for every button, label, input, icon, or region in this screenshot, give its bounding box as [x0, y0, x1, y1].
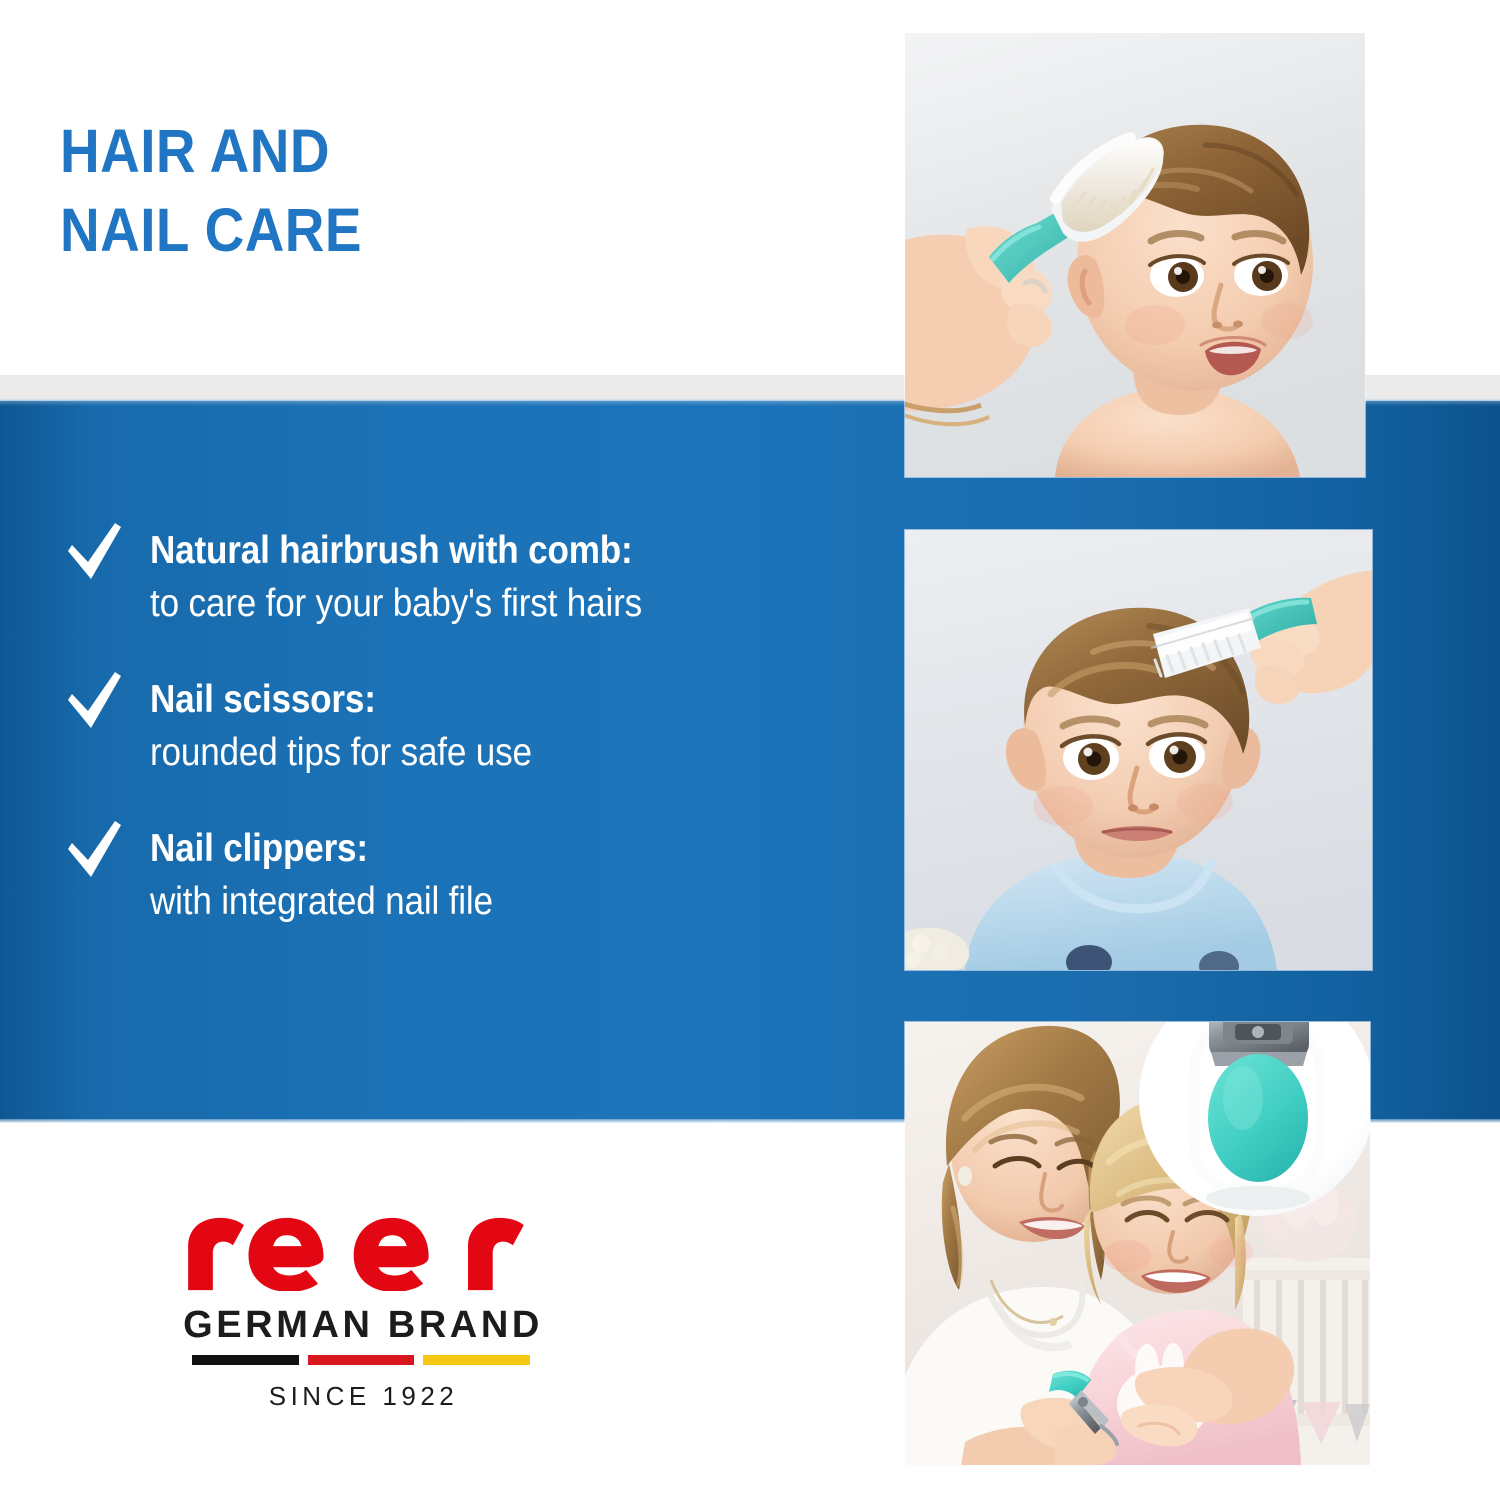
photo-hairbrush [905, 33, 1365, 477]
infographic-page: HAIR AND NAIL CARE Natural hairbrush wit… [0, 0, 1500, 1500]
german-flag-bar [192, 1355, 530, 1365]
flag-stripe-black [192, 1355, 299, 1365]
feature-item-hairbrush: Natural hairbrush with comb: to care for… [62, 525, 852, 630]
page-title: HAIR AND NAIL CARE [60, 112, 840, 270]
feature-subtitle: to care for your baby's first hairs [150, 577, 782, 630]
page-title-line-2: NAIL CARE [60, 191, 762, 270]
feature-title: Natural hairbrush with comb: [150, 525, 782, 577]
reer-wordmark-icon [166, 1216, 556, 1291]
feature-subtitle: with integrated nail file [150, 875, 782, 928]
checkmark-icon [64, 521, 124, 583]
reer-logo: GERMAN BRAND SINCE 1922 [166, 1216, 556, 1412]
flag-stripe-red [308, 1355, 415, 1365]
feature-item-nail-clippers: Nail clippers: with integrated nail file [62, 823, 852, 928]
checkmark-icon [64, 670, 124, 732]
feature-list: Natural hairbrush with comb: to care for… [62, 525, 852, 928]
feature-item-nail-scissors: Nail scissors: rounded tips for safe use [62, 674, 852, 779]
feature-subtitle: rounded tips for safe use [150, 726, 782, 779]
photo-clipping [905, 1022, 1370, 1465]
logo-since-line: SINCE 1922 [166, 1381, 556, 1412]
logo-brand-line: GERMAN BRAND [166, 1304, 556, 1347]
feature-title: Nail scissors: [150, 674, 782, 726]
checkmark-icon [64, 819, 124, 881]
feature-title: Nail clippers: [150, 823, 782, 875]
page-title-line-1: HAIR AND [60, 112, 762, 191]
flag-stripe-gold [423, 1355, 530, 1365]
photo-comb [905, 530, 1372, 970]
